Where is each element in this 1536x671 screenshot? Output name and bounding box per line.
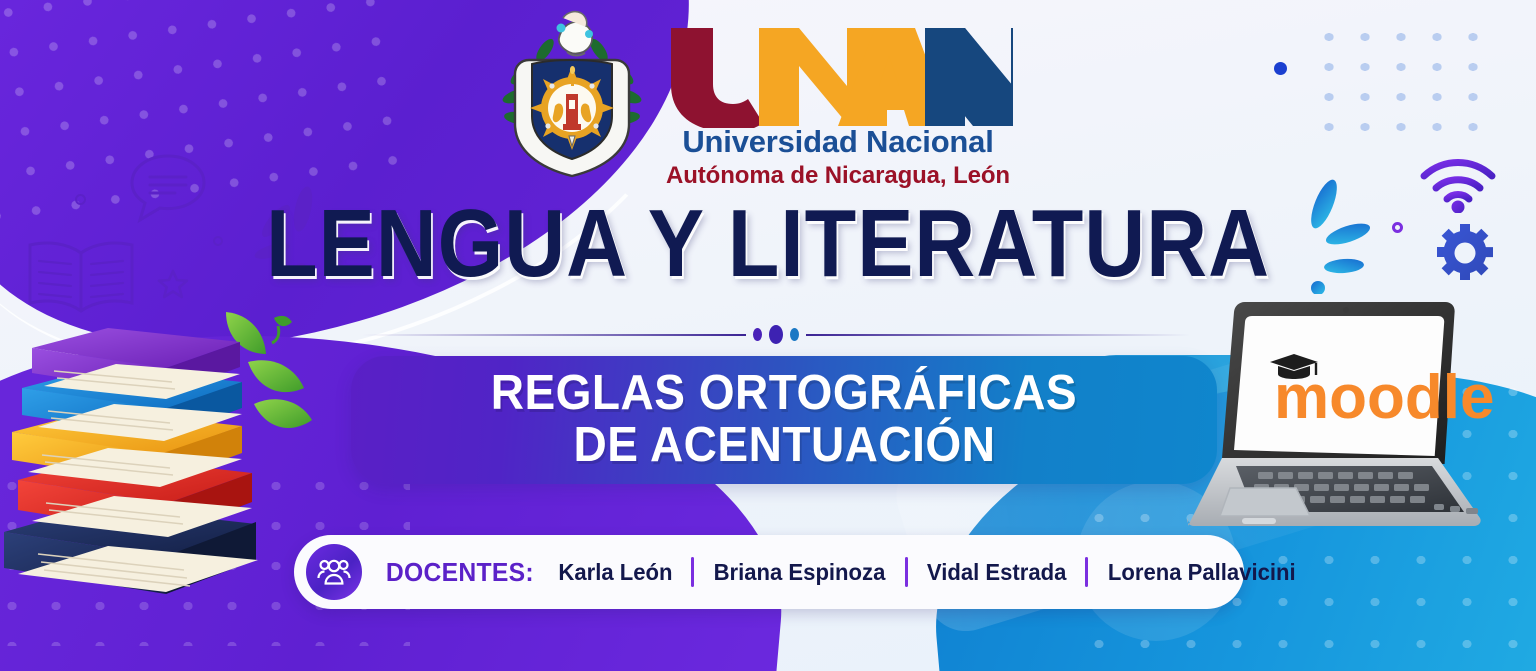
- teacher-name: Briana Espinoza: [713, 559, 885, 586]
- unan-wordmark: Universidad Nacional Autónoma de Nicarag…: [663, 8, 1013, 190]
- teachers-list: Karla León Briana Espinoza Vidal Estrada…: [556, 557, 1300, 587]
- teacher-name: Lorena Pallavicini: [1108, 559, 1296, 586]
- unan-coat-of-arms-icon: [497, 8, 647, 186]
- top-right-accent-dot: [1274, 62, 1287, 75]
- small-ring-dot-left: [75, 194, 86, 205]
- divider-line-left: [362, 334, 746, 336]
- teachers-bar: DOCENTES: Karla León Briana Espinoza Vid…: [294, 535, 1244, 609]
- teacher-name: Vidal Estrada: [927, 559, 1067, 586]
- unan-acronym: [663, 24, 1013, 128]
- page-title: LENGUA Y LITERATURA: [92, 196, 1444, 292]
- book-stack-icon: [0, 310, 306, 610]
- university-name-line1: Universidad Nacional: [663, 124, 1013, 160]
- teacher-separator: [905, 557, 908, 587]
- subject-line2: DE ACENTUACIÓN: [573, 420, 995, 472]
- university-name-line2: Autónoma de Nicaragua, León: [663, 162, 1013, 190]
- teacher-separator: [1085, 557, 1088, 587]
- people-group-badge: [306, 544, 362, 600]
- moodle-logo-text: moodle: [1274, 363, 1494, 432]
- divider-dot-2: [769, 325, 783, 344]
- subject-banner: REGLAS ORTOGRÁFICAS DE ACENTUACIÓN: [351, 356, 1217, 484]
- teachers-label: DOCENTES:: [386, 557, 534, 588]
- top-right-dot-grid: [1311, 22, 1491, 142]
- subject-line1: REGLAS ORTOGRÁFICAS: [491, 368, 1077, 420]
- people-group-icon: [317, 557, 351, 587]
- institution-logo: Universidad Nacional Autónoma de Nicarag…: [497, 8, 1013, 190]
- title-divider: [362, 325, 1190, 344]
- teacher-name: Karla León: [558, 559, 672, 586]
- divider-dot-3: [790, 328, 799, 341]
- laptop-device: moodle: [1178, 290, 1528, 550]
- teacher-separator: [691, 557, 694, 587]
- divider-line-right: [806, 334, 1190, 336]
- divider-dot-1: [753, 328, 762, 341]
- course-banner: Universidad Nacional Autónoma de Nicarag…: [0, 0, 1536, 671]
